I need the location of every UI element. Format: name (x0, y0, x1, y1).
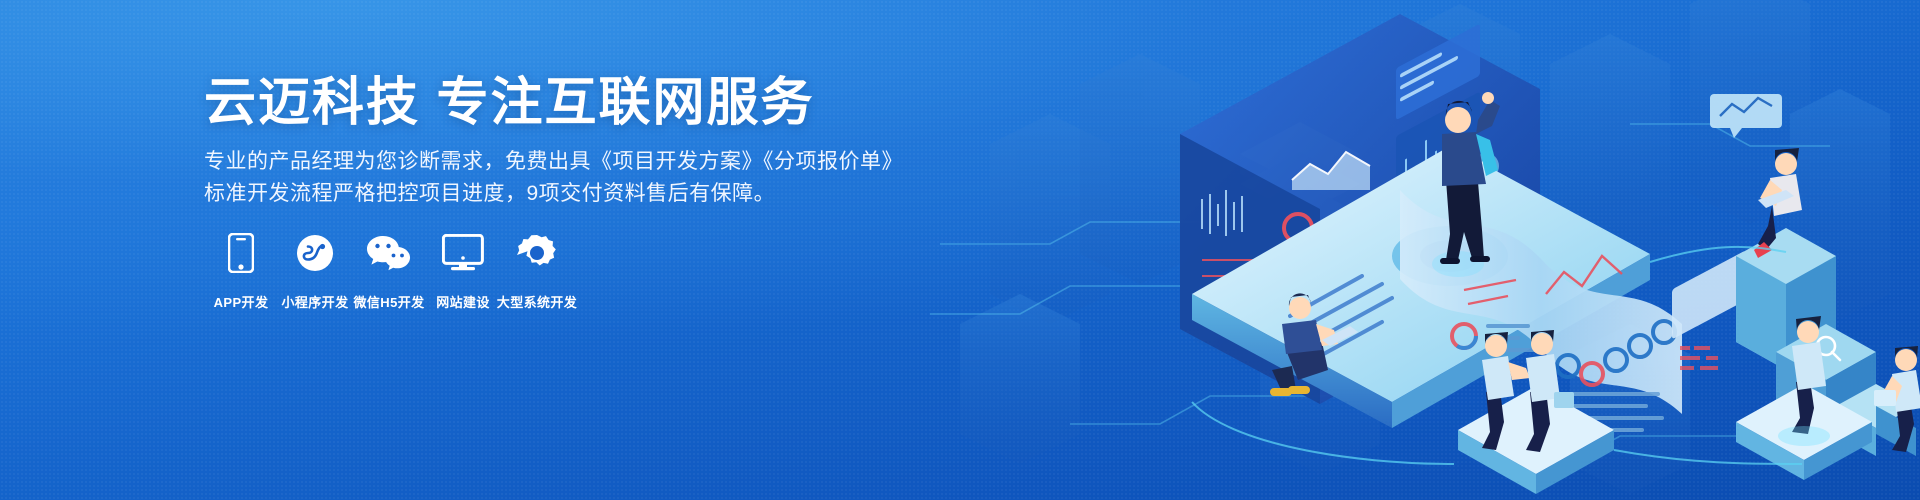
service-item-app[interactable]: APP开发 (204, 232, 278, 311)
service-label: 小程序开发 (281, 292, 348, 311)
service-label: 网站建设 (436, 292, 490, 311)
isometric-data-dashboard-illustration (930, 0, 1920, 500)
service-item-wechat-h5[interactable]: 微信H5开发 (352, 232, 426, 311)
promo-banner: 云迈科技 专注互联网服务 专业的产品经理为您诊断需求，免费出具《项目开发方案》《… (0, 0, 1920, 500)
service-label: 大型系统开发 (497, 292, 577, 311)
monitor-icon (442, 232, 484, 274)
service-item-mini-program[interactable]: 小程序开发 (278, 232, 352, 311)
subtitle-line-2: 标准开发流程严格把控项目进度，9项交付资料售后有保障。 (204, 178, 904, 210)
page-title: 云迈科技 专注互联网服务 (204, 72, 814, 134)
service-label: APP开发 (214, 292, 269, 311)
subtitle-line-1: 专业的产品经理为您诊断需求，免费出具《项目开发方案》《分项报价单》 (204, 146, 904, 178)
mini-program-icon (296, 232, 334, 274)
wechat-icon (366, 232, 412, 274)
gear-icon (517, 232, 557, 274)
service-item-website[interactable]: 网站建设 (426, 232, 500, 311)
service-label: 微信H5开发 (353, 292, 424, 311)
banner-content: 云迈科技 专注互联网服务 专业的产品经理为您诊断需求，免费出具《项目开发方案》《… (204, 0, 924, 500)
banner-subtitle: 专业的产品经理为您诊断需求，免费出具《项目开发方案》《分项报价单》 标准开发流程… (204, 146, 904, 210)
mobile-phone-icon (228, 232, 254, 274)
service-list: APP开发 小程序开发 (204, 232, 574, 311)
service-item-large-system[interactable]: 大型系统开发 (500, 232, 574, 311)
